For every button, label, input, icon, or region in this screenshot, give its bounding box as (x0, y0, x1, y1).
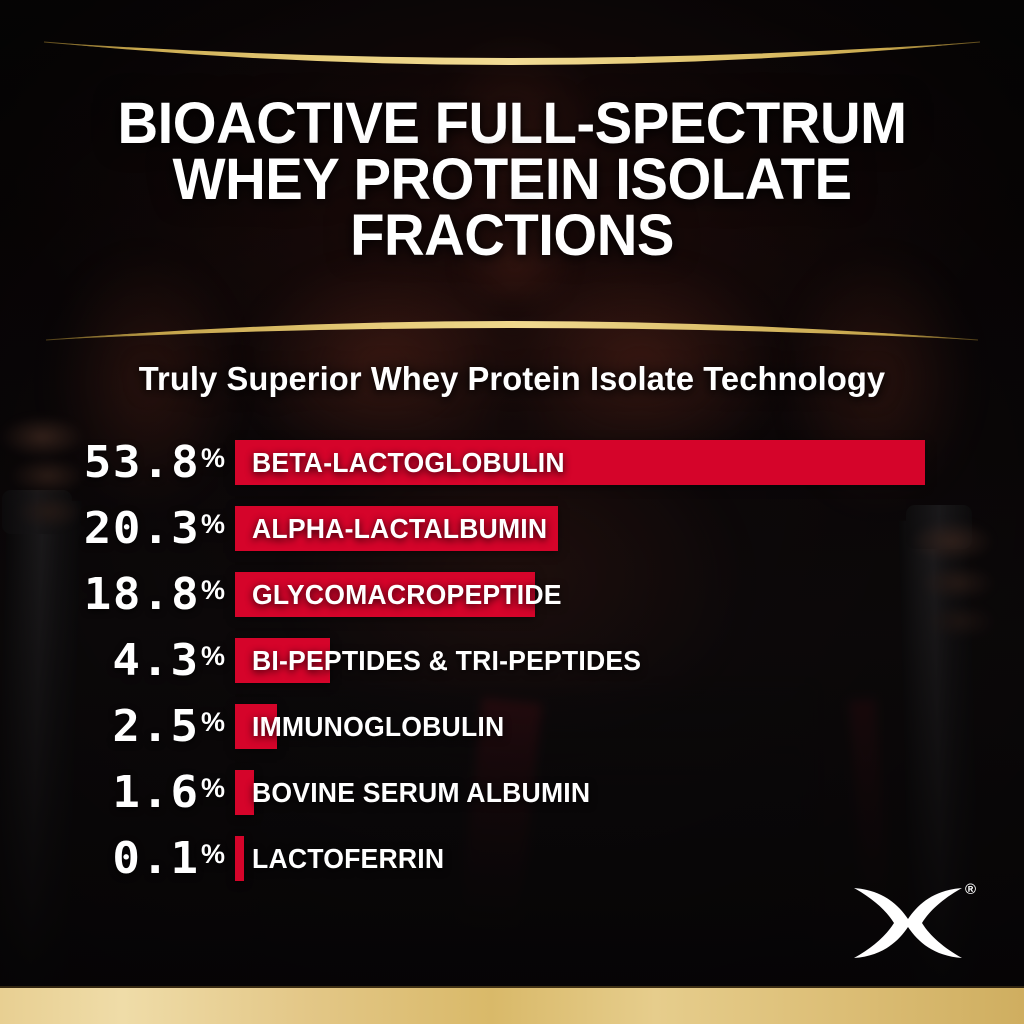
gold-band-bottom (0, 988, 1024, 1024)
fractions-bar-chart: 53.8%BETA-LACTOGLOBULIN20.3%ALPHA-LACTAL… (0, 440, 1024, 902)
page-subtitle: Truly Superior Whey Protein Isolate Tech… (5, 360, 1019, 398)
fraction-label: BI-PEPTIDES & TRI-PEPTIDES (252, 638, 641, 683)
chart-row: 20.3%ALPHA-LACTALBUMIN (0, 506, 1024, 551)
chart-row: 1.6%BOVINE SERUM ALBUMIN (0, 770, 1024, 815)
percentage-number: 20.3 (84, 507, 200, 551)
percentage-number: 1.6 (112, 771, 199, 815)
chart-row: 18.8%GLYCOMACROPEPTIDE (0, 572, 1024, 617)
fraction-label: BETA-LACTOGLOBULIN (252, 440, 565, 485)
title-line-1: BIOACTIVE FULL-SPECTRUM (15, 96, 1008, 152)
title-line-2: WHEY PROTEIN ISOLATE (15, 152, 1008, 208)
title-line-3: FRACTIONS (15, 208, 1008, 264)
fraction-label: BOVINE SERUM ALBUMIN (252, 770, 590, 815)
brand-logo: ® (848, 880, 978, 970)
chart-bar (235, 836, 244, 881)
percent-sign: % (201, 577, 225, 604)
percentage-value: 2.5% (0, 704, 225, 749)
percent-sign: % (201, 511, 225, 538)
percent-sign: % (201, 445, 225, 472)
registered-trademark-symbol: ® (965, 882, 976, 897)
percentage-value: 53.8% (0, 440, 225, 485)
percentage-number: 4.3 (112, 639, 199, 683)
percentage-number: 53.8 (84, 441, 200, 485)
fraction-label: IMMUNOGLOBULIN (252, 704, 504, 749)
percentage-value: 0.1% (0, 836, 225, 881)
fraction-label: GLYCOMACROPEPTIDE (252, 572, 562, 617)
fraction-label: ALPHA-LACTALBUMIN (252, 506, 547, 551)
percentage-number: 0.1 (112, 837, 199, 881)
chart-row: 0.1%LACTOFERRIN (0, 836, 1024, 881)
chart-row: 53.8%BETA-LACTOGLOBULIN (0, 440, 1024, 485)
chart-row: 4.3%BI-PEPTIDES & TRI-PEPTIDES (0, 638, 1024, 683)
percentage-value: 1.6% (0, 770, 225, 815)
chart-row: 2.5%IMMUNOGLOBULIN (0, 704, 1024, 749)
percentage-number: 2.5 (112, 705, 199, 749)
percent-sign: % (201, 643, 225, 670)
percentage-number: 18.8 (84, 573, 200, 617)
percentage-value: 18.8% (0, 572, 225, 617)
fraction-label: LACTOFERRIN (252, 836, 444, 881)
percent-sign: % (201, 775, 225, 802)
infographic-poster: BIOACTIVE FULL-SPECTRUM WHEY PROTEIN ISO… (0, 0, 1024, 1024)
percentage-value: 4.3% (0, 638, 225, 683)
x-logo-icon (848, 880, 968, 966)
percent-sign: % (201, 841, 225, 868)
percentage-value: 20.3% (0, 506, 225, 551)
percent-sign: % (201, 709, 225, 736)
page-title: BIOACTIVE FULL-SPECTRUM WHEY PROTEIN ISO… (0, 96, 1024, 264)
